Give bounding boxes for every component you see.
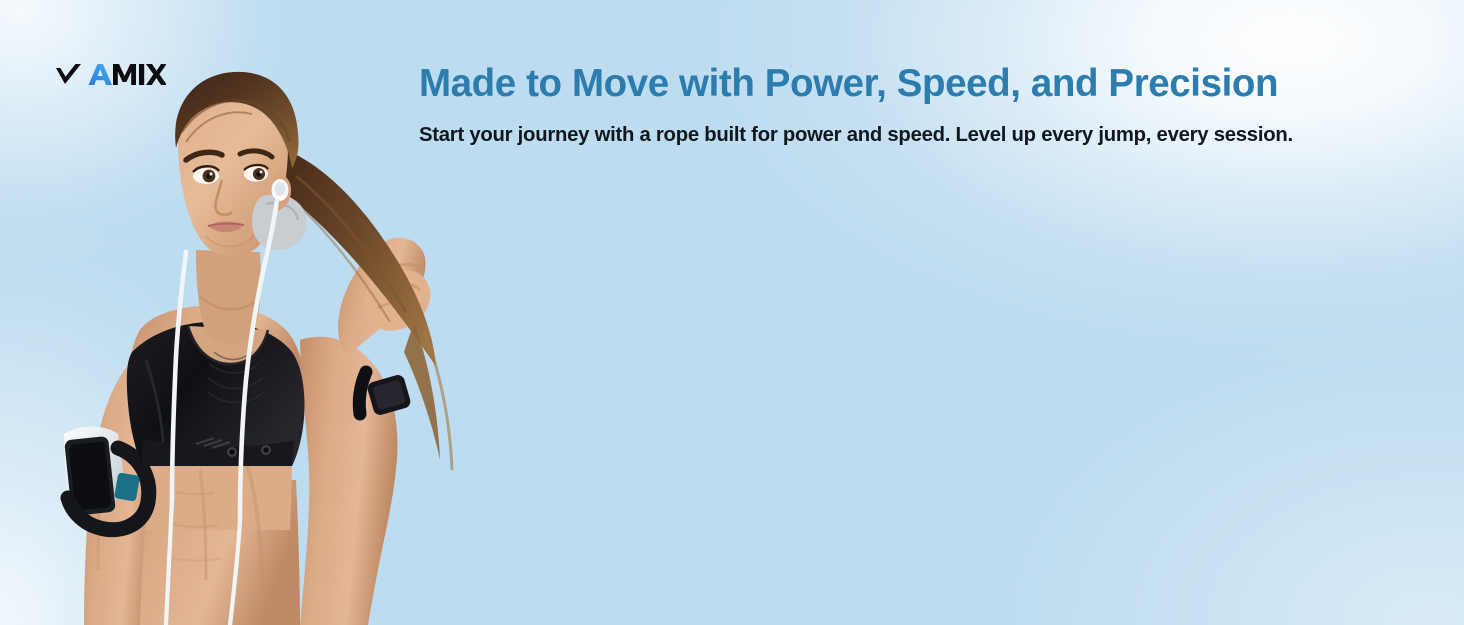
logo-letter-a bbox=[89, 64, 113, 85]
page-subtitle: Start your journey with a rope built for… bbox=[419, 122, 1429, 148]
logo-letters-mix bbox=[113, 64, 166, 85]
logo-letter-v bbox=[56, 64, 81, 84]
page-title: Made to Move with Power, Speed, and Prec… bbox=[419, 61, 1419, 106]
promo-banner: Made to Move with Power, Speed, and Prec… bbox=[0, 0, 1464, 625]
athlete-photo bbox=[0, 0, 470, 625]
vamix-logo[interactable] bbox=[54, 62, 166, 92]
